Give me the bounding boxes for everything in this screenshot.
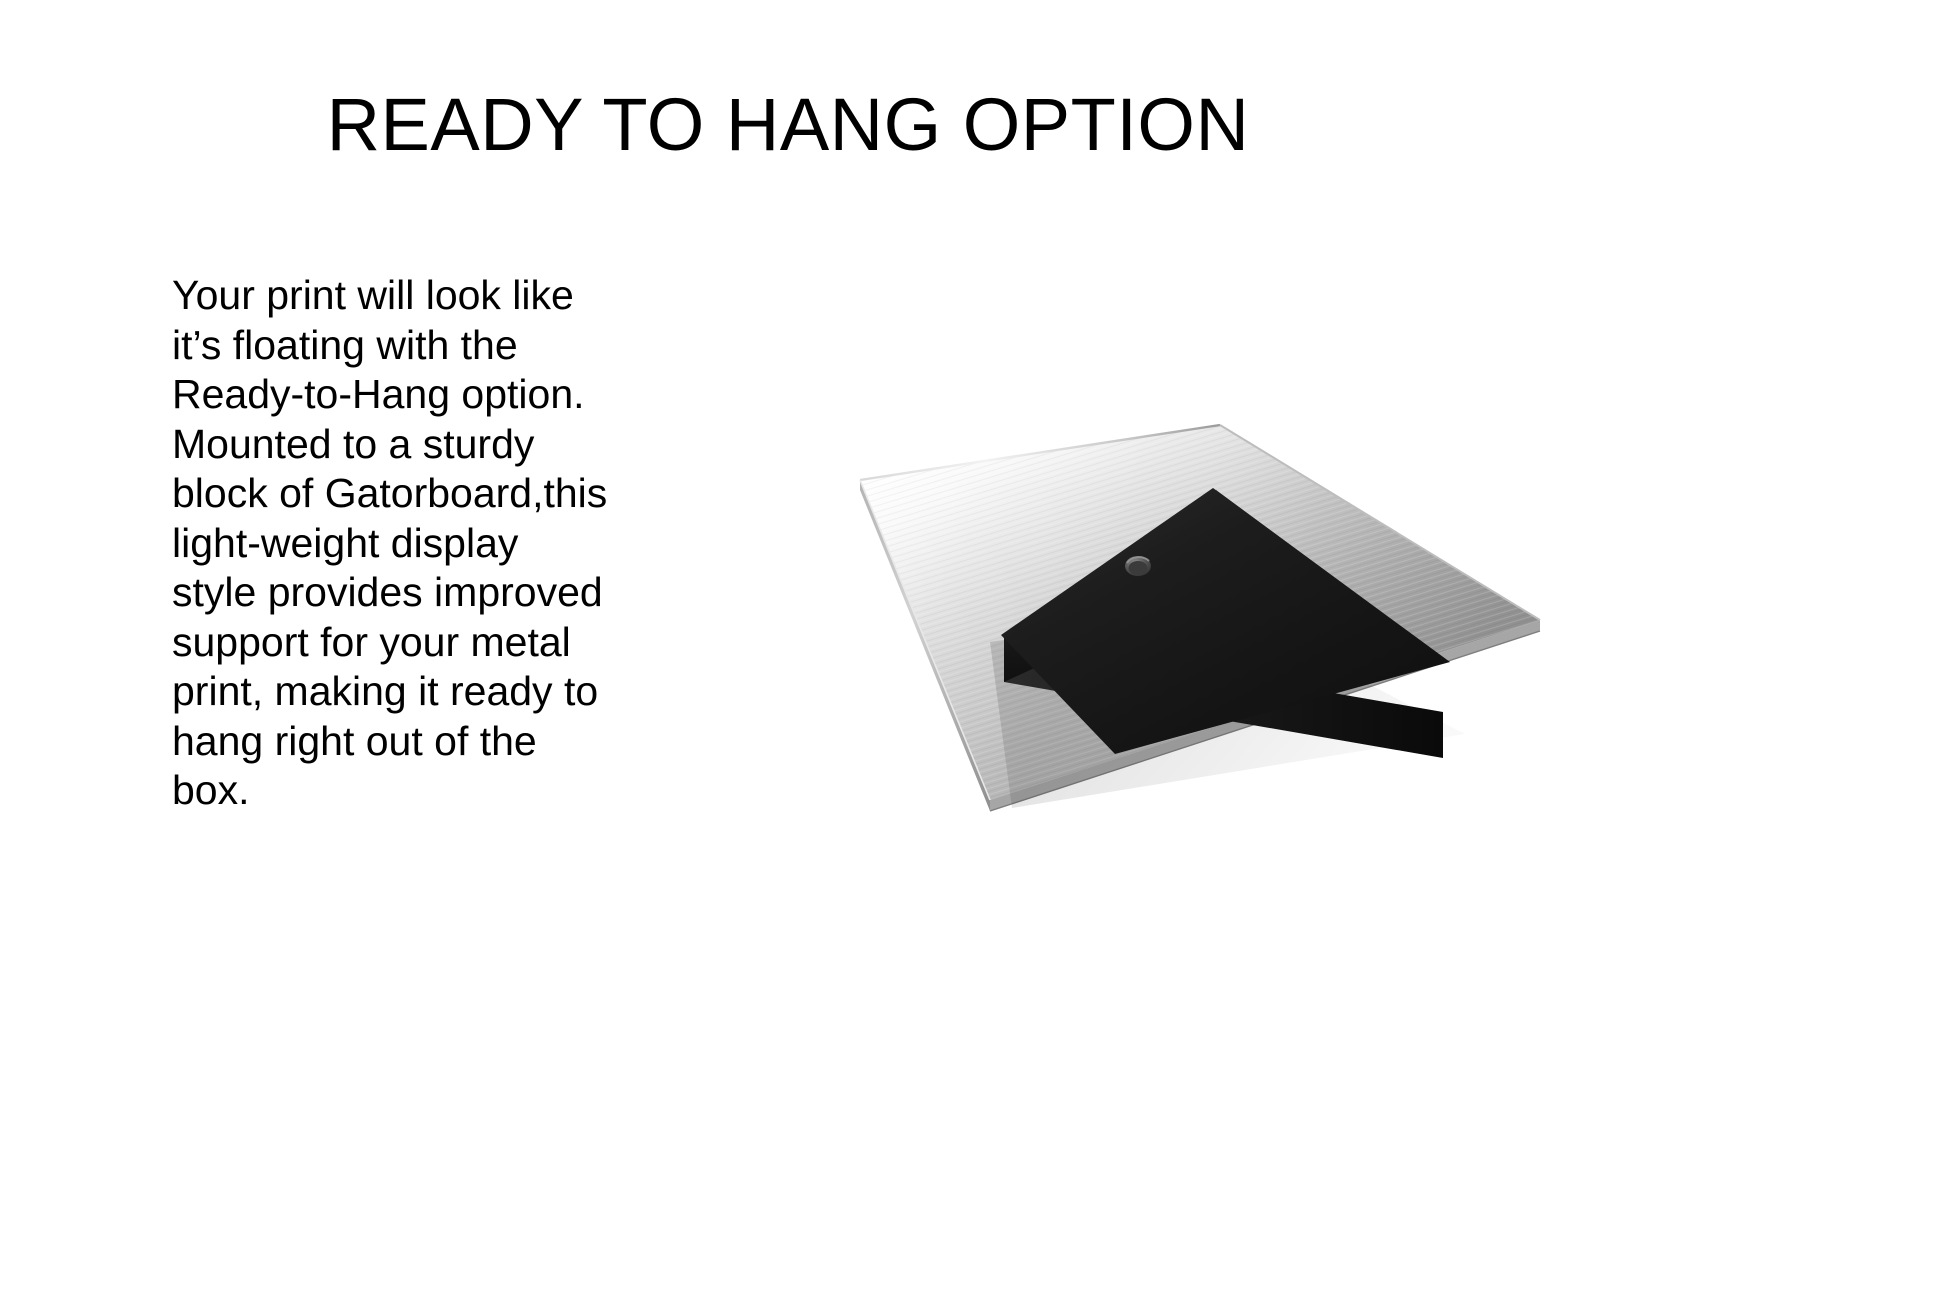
copy-line: Your print will look like (172, 271, 642, 321)
copy-line: style provides improved (172, 568, 642, 618)
copy-line: hang right out of the (172, 717, 642, 767)
product-photo-stage (660, 330, 1560, 870)
gatorboard-block-illustration (660, 330, 1560, 870)
product-photo (660, 330, 1560, 870)
hanging-hole (1125, 556, 1151, 576)
page-title: READY TO HANG OPTION (0, 88, 1761, 162)
slide-canvas: READY TO HANG OPTION Your print will loo… (0, 0, 1946, 1297)
copy-line: light-weight display (172, 519, 642, 569)
copy-line: Ready-to-Hang option. (172, 370, 642, 420)
description-text-block: Your print will look like it’s floating … (172, 271, 642, 816)
copy-line: Mounted to a sturdy (172, 420, 642, 470)
copy-line: support for your metal (172, 618, 642, 668)
copy-line: block of Gatorboard,this (172, 469, 642, 519)
copy-line: it’s floating with the (172, 321, 642, 371)
copy-line: print, making it ready to (172, 667, 642, 717)
copy-line: box. (172, 766, 642, 816)
